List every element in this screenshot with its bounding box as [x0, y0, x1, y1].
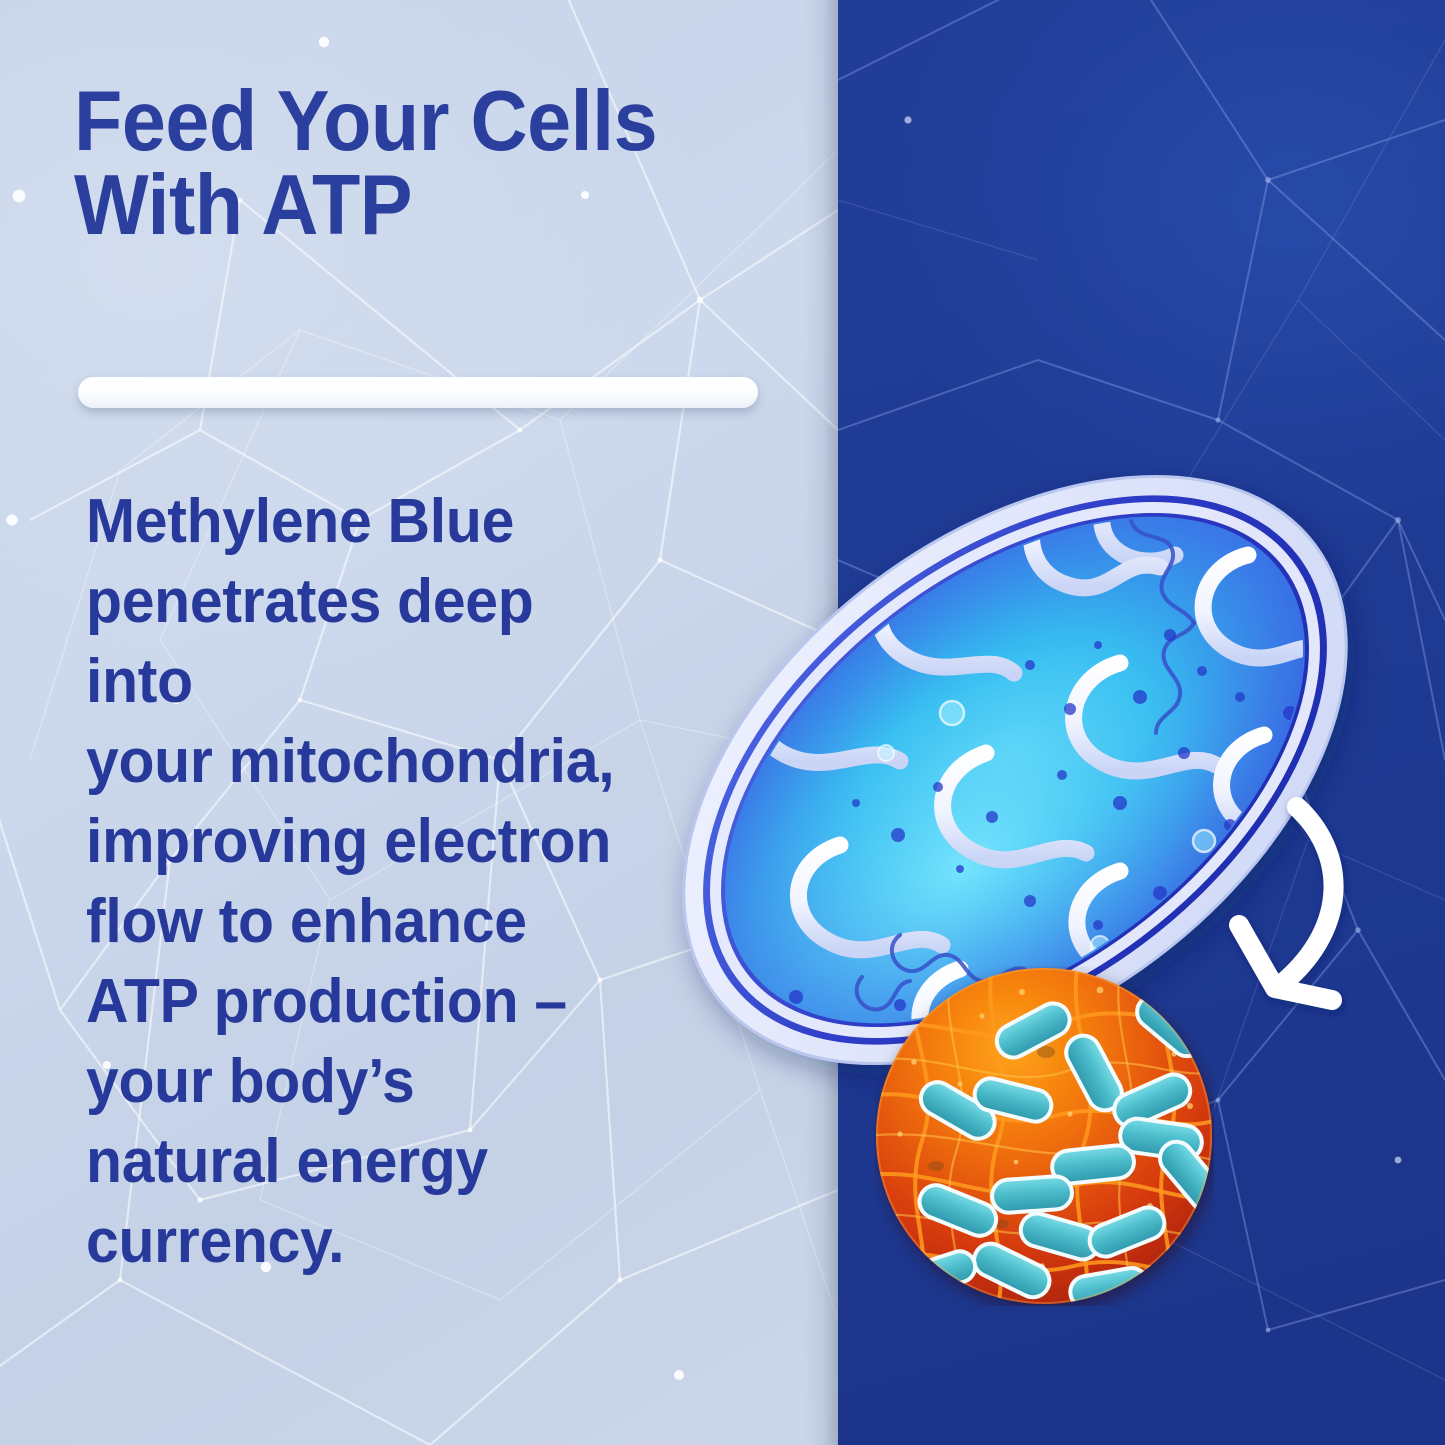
left-content-panel: Feed Your Cells With ATP Methylene Blue … [0, 0, 838, 1445]
page-title: Feed Your Cells With ATP [74, 80, 744, 248]
ad-banner: Feed Your Cells With ATP Methylene Blue … [0, 0, 1445, 1445]
body-paragraph: Methylene Blue penetrates deep into your… [86, 482, 656, 1282]
bacteria-microscopy-inset [874, 966, 1214, 1306]
curved-down-left-arrow [1205, 785, 1400, 1030]
divider-pill [78, 377, 758, 408]
